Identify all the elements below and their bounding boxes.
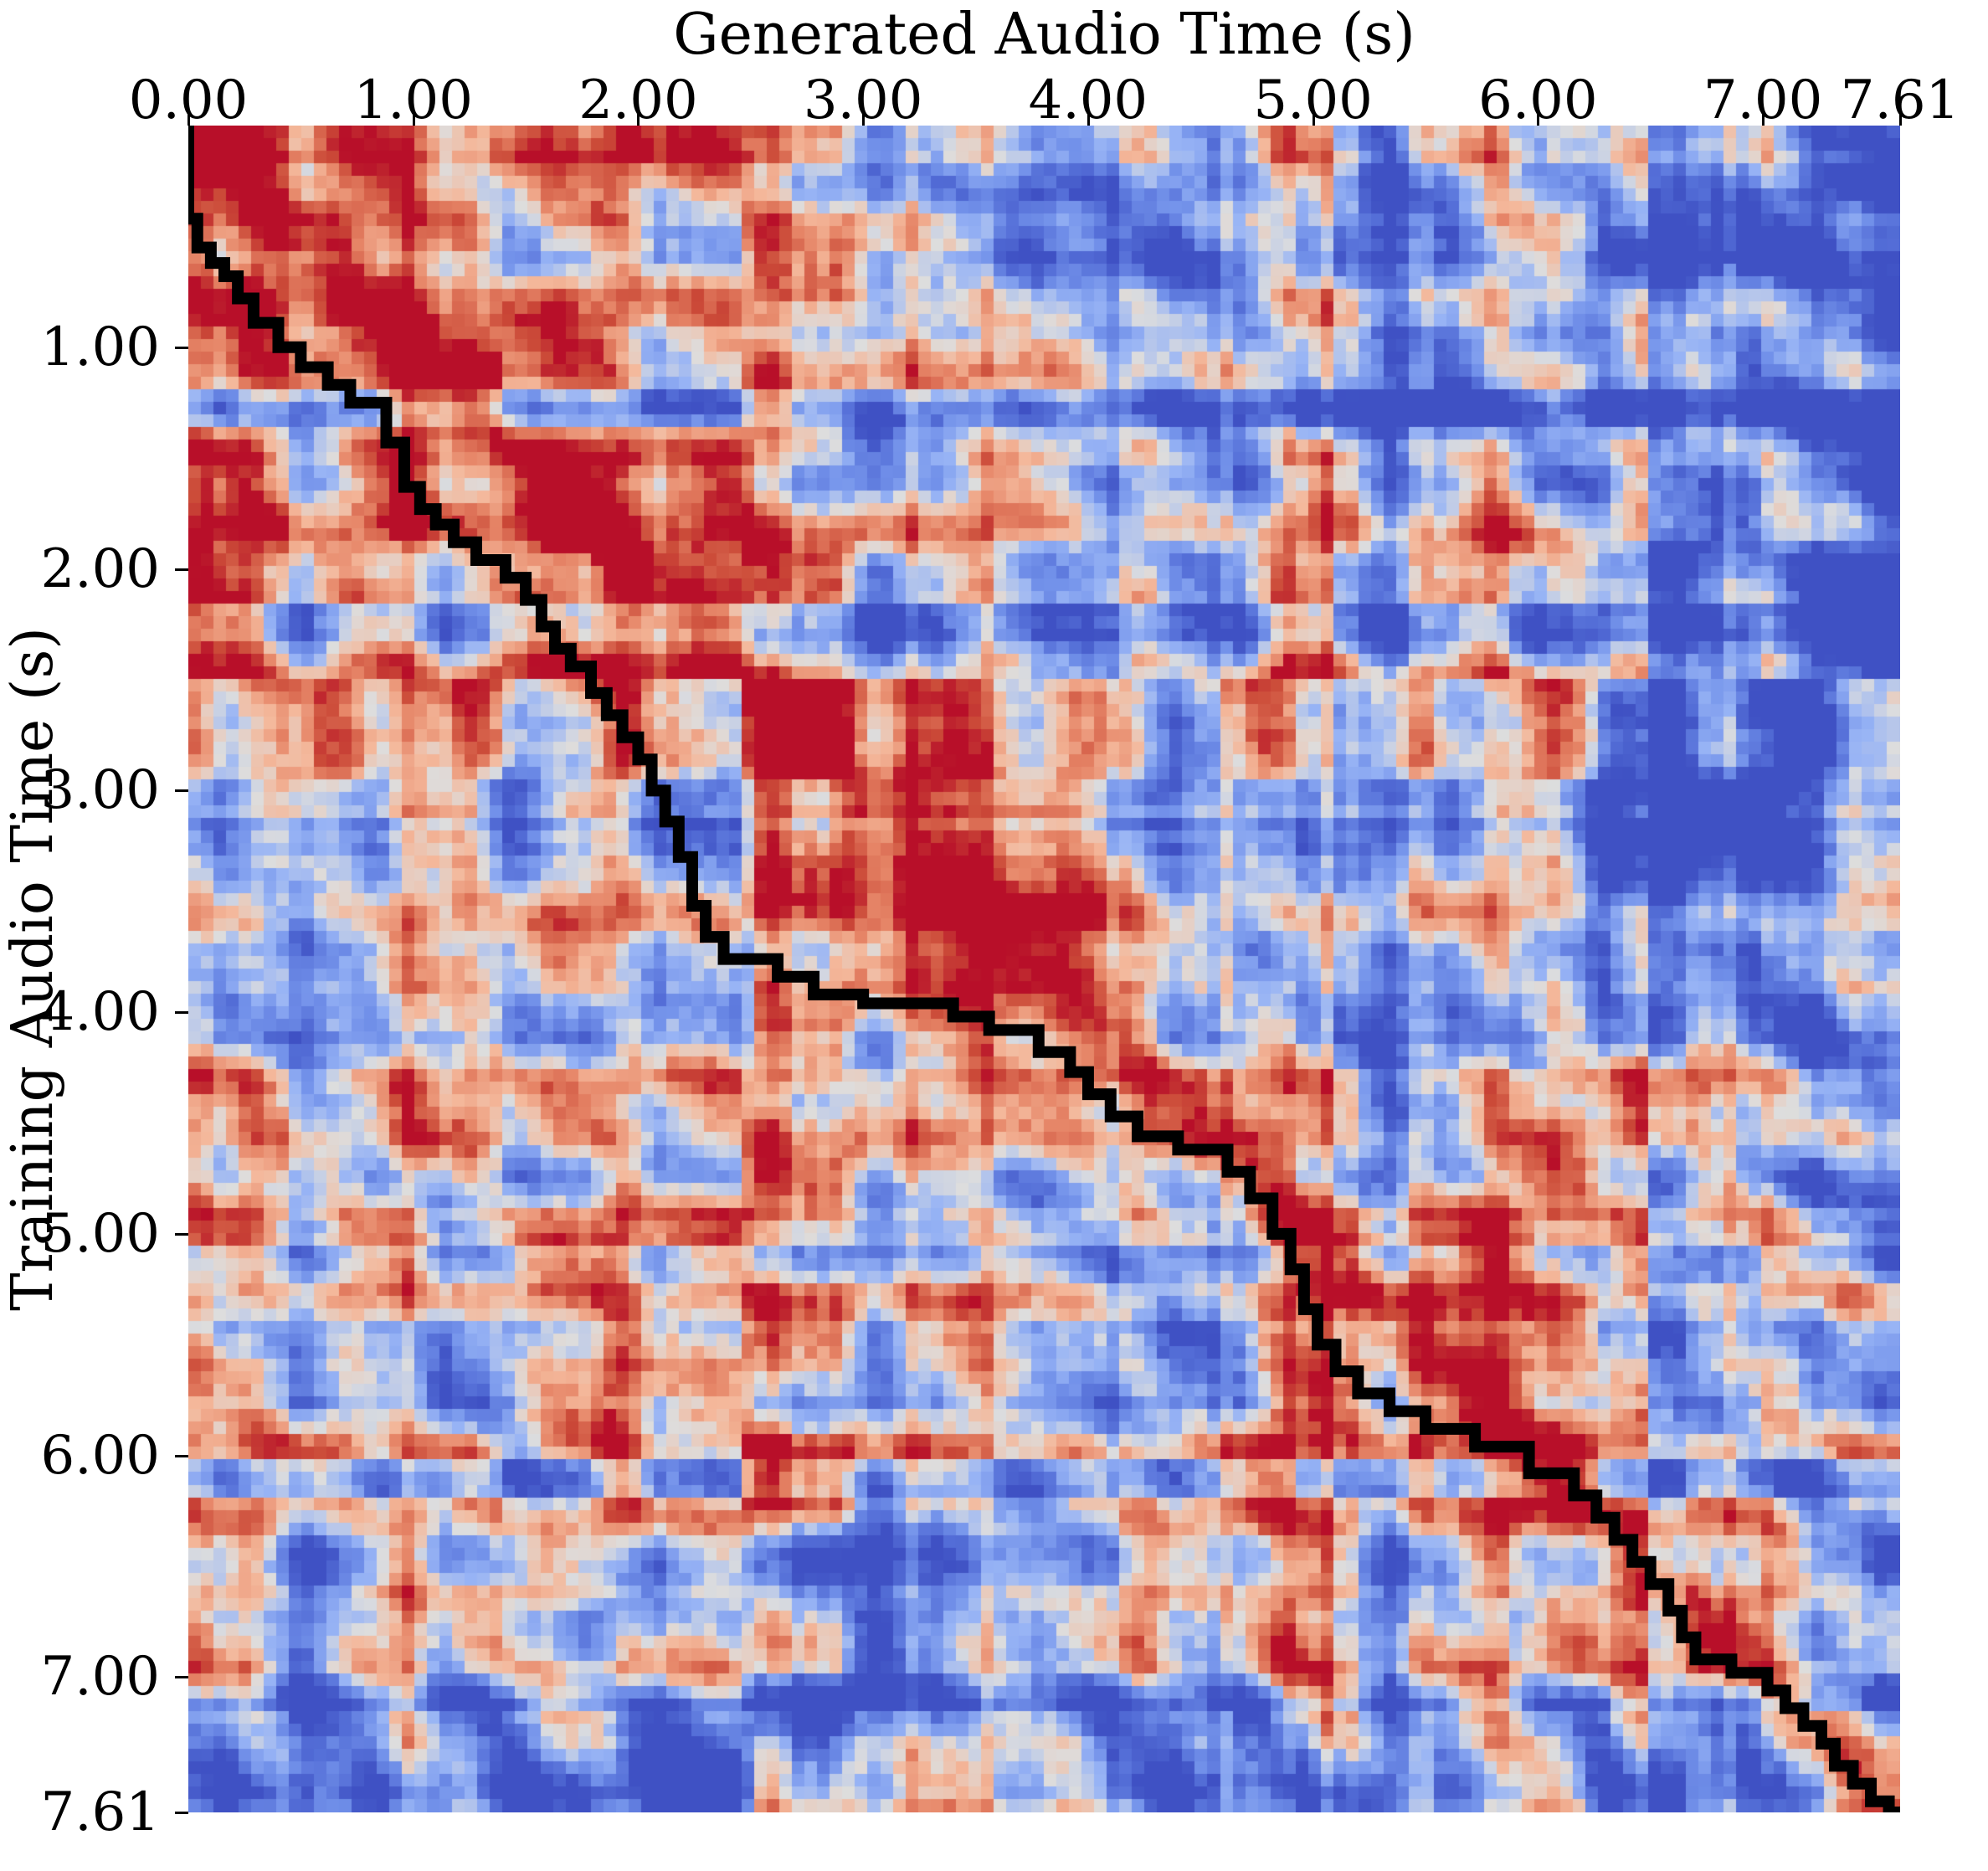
x-tick-mark <box>1537 112 1539 126</box>
y-tick-mark <box>175 1011 188 1014</box>
y-tick-label: 4.00 <box>0 985 160 1039</box>
y-tick-mark <box>175 789 188 792</box>
x-tick-mark <box>637 112 640 126</box>
y-tick-label: 3.00 <box>0 763 160 817</box>
y-tick-mark <box>175 1455 188 1457</box>
y-tick-mark <box>175 347 188 349</box>
x-tick-mark <box>413 112 415 126</box>
y-axis-title: Training Audio Time (s) <box>0 126 67 1812</box>
y-tick-mark <box>175 1812 188 1814</box>
x-tick-mark <box>1899 112 1902 126</box>
x-tick-mark <box>862 112 865 126</box>
figure-page: Generated Audio Time (s) Training Audio … <box>0 0 1988 1871</box>
y-tick-label: 6.00 <box>0 1429 160 1483</box>
x-axis-title: Generated Audio Time (s) <box>188 7 1900 64</box>
heatmap-plot-area <box>188 126 1900 1812</box>
y-tick-mark <box>175 568 188 571</box>
y-tick-mark <box>175 1676 188 1678</box>
y-tick-label: 5.00 <box>0 1207 160 1261</box>
y-tick-label: 1.00 <box>0 321 160 374</box>
x-tick-mark <box>1087 112 1090 126</box>
x-tick-mark <box>1762 112 1765 126</box>
y-tick-mark <box>175 1233 188 1236</box>
y-tick-label: 2.00 <box>0 542 160 596</box>
x-tick-mark <box>187 112 190 126</box>
y-tick-label: 7.61 <box>0 1786 160 1839</box>
self-similarity-heatmap <box>188 126 1900 1812</box>
y-tick-label: 7.00 <box>0 1650 160 1704</box>
x-tick-mark <box>1312 112 1315 126</box>
